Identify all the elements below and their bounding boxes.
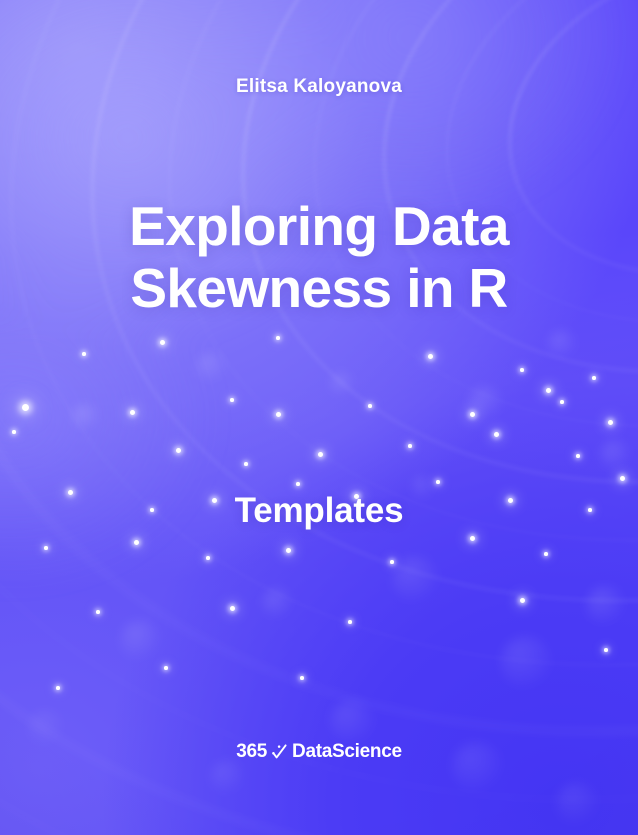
cover-subtitle: Templates [235,491,404,531]
brand-logo: 365 DataScience [0,741,638,763]
cover-title-line-2: Skewness in R [129,257,509,319]
cover-title: Exploring Data Skewness in R [129,195,509,319]
brand-logo-suffix: DataScience [292,741,402,763]
square-root-checkmark-icon [270,742,290,762]
brand-logo-prefix: 365 [236,741,267,763]
book-cover: Elitsa Kaloyanova Exploring Data Skewnes… [0,0,638,835]
author-name: Elitsa Kaloyanova [236,76,402,98]
cover-title-line-1: Exploring Data [129,195,509,257]
cover-content: Elitsa Kaloyanova Exploring Data Skewnes… [0,0,638,835]
